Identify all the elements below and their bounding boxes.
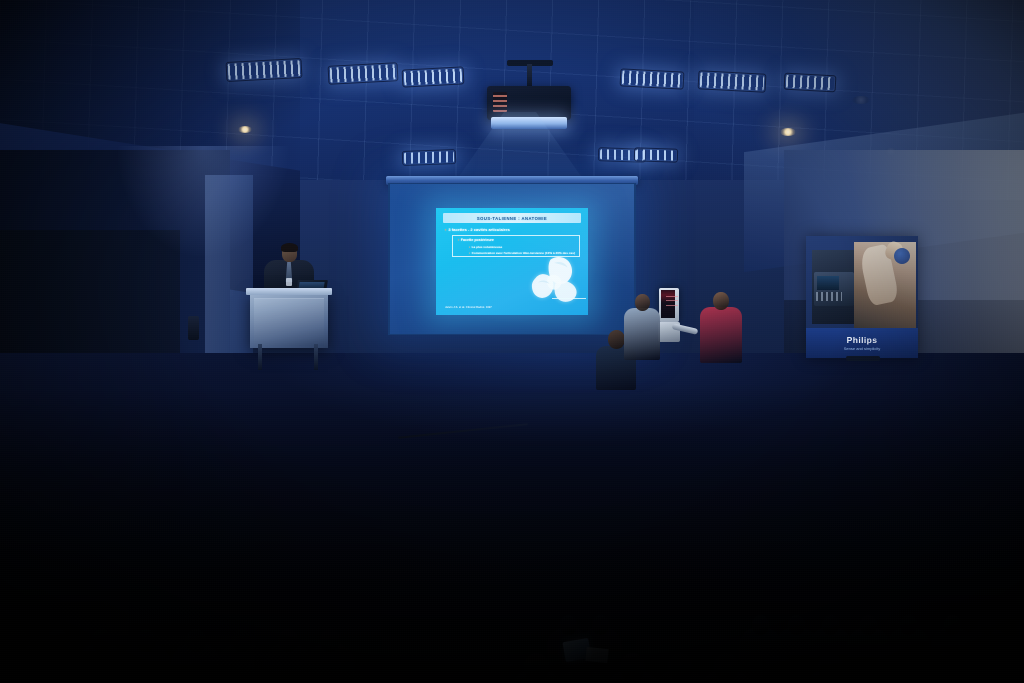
ceiling-troffer-light: [404, 68, 463, 85]
ceiling-troffer-light: [228, 60, 301, 80]
slide-sub-1: ▪La plus volumineuse: [469, 245, 502, 249]
slide-bullet-1: ▪3 facettes - 2 cavités articulaires: [445, 227, 510, 232]
troffer-frame: [620, 68, 685, 89]
projector-vent-icon: [493, 92, 507, 112]
ceiling-troffer-light: [622, 70, 683, 87]
troffer-frame: [698, 70, 767, 93]
ceiling-downlight-on: [238, 126, 252, 133]
ceiling-downlight-on: [780, 128, 796, 136]
slide-box-heading-text: Facette postérieure: [461, 238, 494, 242]
audience-member-head: [766, 653, 791, 681]
troffer-frame: [784, 73, 837, 93]
audience-member-head: [860, 615, 877, 635]
audience-member-head: [278, 629, 298, 652]
audience-member-head: [92, 629, 112, 652]
bullet-marker-icon-2: ▪: [458, 238, 459, 242]
troffer-frame: [402, 149, 456, 166]
slide-sub-1-text: La plus volumineuse: [472, 245, 503, 249]
paper-on-floor: [585, 647, 608, 663]
audience-member-head: [944, 615, 961, 635]
conference-hall-photo: SOUS-TALIENNE : ANATOMIE ▪3 facettes - 2…: [0, 0, 1024, 683]
audience-member-head: [934, 653, 959, 681]
projector-drop-pole: [527, 64, 532, 88]
audience-member-head: [8, 629, 28, 652]
audience-member-head: [714, 653, 739, 681]
ceiling-troffer-light: [330, 64, 397, 82]
audience-member-head: [232, 629, 252, 652]
audience-member-head: [788, 615, 805, 635]
audience-member-head: [818, 653, 843, 681]
slide-bullet-1-text: 3 facettes - 2 cavités articulaires: [448, 227, 509, 232]
troffer-frame: [226, 58, 303, 82]
sub-bullet-icon-1: ▪: [469, 245, 470, 249]
ceiling-troffer-light: [700, 72, 765, 90]
slide-title: SOUS-TALIENNE : ANATOMIE: [477, 216, 547, 221]
ceiling-troffer-light: [404, 151, 454, 164]
audience-member-head: [822, 615, 839, 635]
wall-spotlight-glow: [118, 146, 288, 256]
troffer-frame: [328, 62, 399, 85]
ceiling-troffer-light: [786, 75, 835, 90]
audience-member-head: [320, 629, 340, 652]
slide-title-bar: SOUS-TALIENNE : ANATOMIE: [443, 213, 581, 223]
ceiling-projector: [487, 86, 571, 120]
audience-member-head: [986, 653, 1011, 681]
ceiling-downlight-off: [852, 96, 870, 104]
audience-member-head: [900, 615, 917, 635]
audience-member-head: [592, 615, 609, 635]
audience-member-head: [978, 615, 995, 635]
seated-audience: [0, 263, 1024, 683]
projector-lens-glow: [491, 117, 567, 129]
audience-member-head: [752, 615, 769, 635]
audience-member-head: [668, 653, 693, 681]
presenter-hair: [281, 243, 298, 252]
troffer-frame: [402, 66, 465, 87]
audience-member-head: [524, 653, 549, 681]
slide-box-heading: ▪Facette postérieure: [458, 238, 494, 242]
audience-member-head: [136, 629, 156, 652]
audience-member-head: [560, 615, 577, 635]
audience-member-head: [186, 629, 206, 652]
philips-shield-icon: [894, 248, 910, 264]
sub-bullet-icon-2: ▪: [469, 251, 470, 255]
audience-member-head: [876, 653, 901, 681]
bullet-marker-icon: ▪: [445, 227, 446, 232]
audience-member-head: [620, 653, 645, 681]
ceiling-troffer-light: [636, 149, 676, 160]
audience-member-head: [48, 629, 68, 652]
troffer-frame: [634, 147, 678, 163]
